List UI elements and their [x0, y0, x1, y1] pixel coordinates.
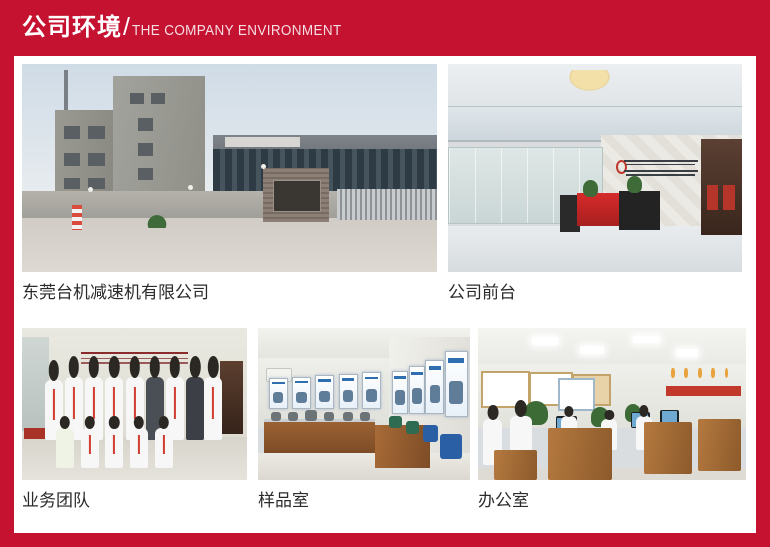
sample-room-photo[interactable]: [258, 328, 470, 480]
gallery-caption: 公司前台: [448, 282, 516, 304]
gallery-caption: 办公室: [478, 490, 529, 512]
gallery-item-factory[interactable]: 东莞台机减速机有限公司: [22, 64, 437, 284]
header-title-group: 公司环境 / THE COMPANY ENVIRONMENT: [22, 13, 357, 45]
gallery-item-reception[interactable]: 公司前台: [448, 64, 748, 284]
factory-exterior-photo[interactable]: [22, 64, 437, 272]
gallery-item-sample-room[interactable]: 样品室: [258, 328, 474, 488]
page-title-chinese: 公司环境: [22, 13, 122, 41]
gallery-caption: 样品室: [258, 490, 309, 512]
gallery-row-2: 业务团队: [14, 328, 756, 488]
company-environment-page: 公司环境 / THE COMPANY ENVIRONMENT: [0, 0, 770, 547]
company-reception-photo[interactable]: [448, 64, 742, 272]
title-separator: /: [123, 13, 130, 41]
page-title-english: THE COMPANY ENVIRONMENT: [132, 17, 342, 45]
gallery-item-office[interactable]: 办公室: [478, 328, 748, 488]
gallery-item-sales-team[interactable]: 业务团队: [22, 328, 252, 488]
sales-team-photo[interactable]: [22, 328, 247, 480]
gallery-row-1: 东莞台机减速机有限公司: [14, 64, 756, 284]
gallery-caption: 东莞台机减速机有限公司: [22, 282, 209, 304]
gallery-caption: 业务团队: [22, 490, 90, 512]
section-header-banner: 公司环境 / THE COMPANY ENVIRONMENT: [0, 0, 770, 56]
office-photo[interactable]: [478, 328, 746, 480]
gallery-card: 东莞台机减速机有限公司: [14, 56, 756, 533]
